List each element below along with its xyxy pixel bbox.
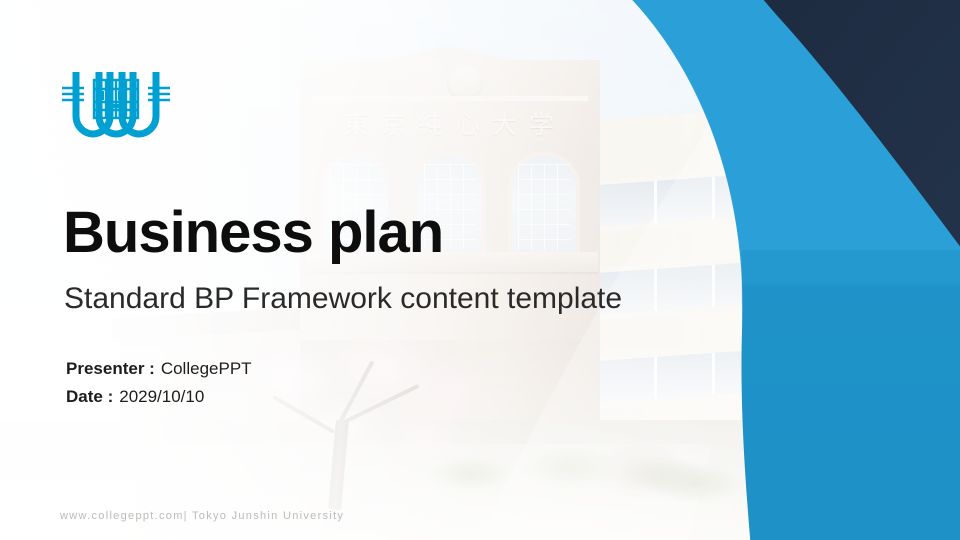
- presentation-meta: Presenter :CollegePPT Date :2029/10/10: [66, 355, 252, 410]
- presenter-value: CollegePPT: [161, 359, 252, 378]
- presenter-label: Presenter :: [66, 359, 155, 378]
- page-title: Business plan: [63, 203, 443, 264]
- page-subtitle: Standard BP Framework content template: [64, 281, 622, 317]
- tokyo-junshin-university-logo-icon: [62, 62, 170, 140]
- blue-band-lower-tint: [742, 250, 960, 540]
- title-slide: 東京純心大学: [0, 0, 960, 540]
- university-logo: [62, 62, 170, 140]
- date-row: Date :2029/10/10: [66, 383, 252, 411]
- footer-credit: www.collegeppt.com| Tokyo Junshin Univer…: [60, 510, 344, 522]
- date-label: Date :: [66, 387, 113, 406]
- presenter-row: Presenter :CollegePPT: [66, 355, 252, 383]
- date-value: 2029/10/10: [119, 387, 204, 406]
